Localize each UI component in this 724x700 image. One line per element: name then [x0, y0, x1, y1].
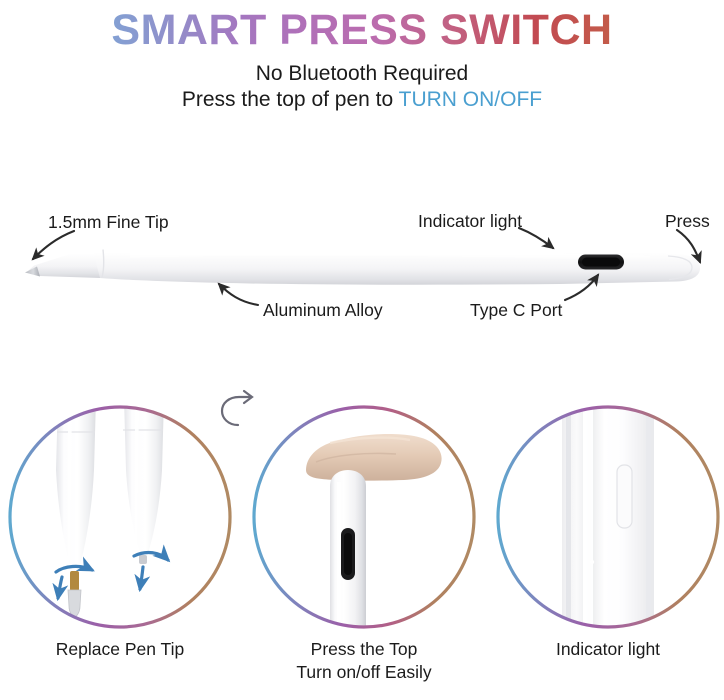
infographic-page: SMART PRESS SWITCH No Bluetooth Required…	[0, 0, 724, 700]
label-press: Press	[665, 211, 710, 232]
feature-caption-press-the-top: Press the Top Turn on/off Easily	[252, 638, 476, 684]
pen-end-cap-edge	[668, 256, 692, 280]
arrow-press	[677, 230, 700, 262]
type-c-port	[578, 255, 624, 270]
arrow-type-c-port	[565, 275, 598, 300]
stylus-pen-illustration	[25, 243, 700, 284]
arrow-aluminum-alloy	[219, 284, 258, 305]
pen-tip-cone	[28, 247, 104, 278]
pen-nib	[25, 267, 40, 277]
label-fine-tip: 1.5mm Fine Tip	[48, 212, 169, 233]
pen-barrel	[92, 243, 700, 284]
feature-caption-line-2: Turn on/off Easily	[252, 661, 476, 684]
subtitle-no-bluetooth: No Bluetooth Required	[0, 62, 724, 86]
feature-card-indicator-light[interactable]: Indicator light	[496, 396, 720, 696]
arrow-fine-tip	[33, 231, 74, 259]
callout-arrows	[33, 228, 700, 305]
feature-caption-indicator-light: Indicator light	[496, 638, 720, 661]
feature-caption-line-1: Indicator light	[556, 639, 660, 659]
feature-card-replace-pen-tip[interactable]: Replace Pen Tip	[8, 396, 232, 696]
pen-seam-line	[102, 250, 104, 278]
feature-card-press-the-top[interactable]: Press the Top Turn on/off Easily	[252, 396, 476, 696]
label-type-c-port: Type C Port	[470, 300, 562, 321]
subtitle-press-top: Press the top of pen to TURN ON/OFF	[0, 88, 724, 112]
arrow-indicator-light	[519, 228, 553, 248]
feature-caption-line-1: Replace Pen Tip	[56, 639, 184, 659]
feature-circles: Replace Pen Tip Press the Top Turn on/of…	[0, 396, 724, 700]
label-aluminum-alloy: Aluminum Alloy	[263, 300, 383, 321]
subtitle-highlight-text: TURN ON/OFF	[399, 88, 542, 111]
page-title: SMART PRESS SWITCH	[0, 8, 724, 53]
label-indicator-light: Indicator light	[418, 211, 522, 232]
pen-highlight	[130, 249, 650, 261]
type-c-port-inner	[582, 258, 620, 267]
feature-caption-replace-pen-tip: Replace Pen Tip	[8, 638, 232, 661]
feature-caption-line-1: Press the Top	[311, 639, 418, 659]
subtitle-prefix-text: Press the top of pen to	[182, 88, 399, 111]
